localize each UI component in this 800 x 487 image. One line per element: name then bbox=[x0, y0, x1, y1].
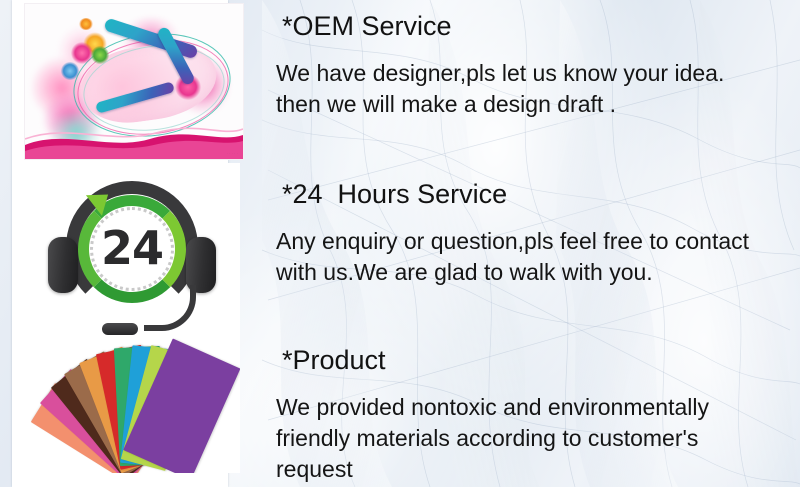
section-body: Any enquiry or question,pls feel free to… bbox=[276, 226, 796, 288]
body-line: We provided nontoxic and environmentally bbox=[276, 392, 796, 423]
section-heading: *Product bbox=[282, 342, 800, 378]
service-info-banner: · · · · · 24 bbox=[0, 0, 800, 487]
body-line: request bbox=[276, 454, 796, 485]
flip-flop-artwork-image: · · · · · bbox=[24, 3, 244, 160]
pink-wave-decor bbox=[25, 117, 243, 159]
product-image-column: · · · · · 24 bbox=[12, 0, 228, 487]
section-24-hours-service: *24 Hours Service Any enquiry or questio… bbox=[258, 176, 800, 288]
colored-foam-sheets-image bbox=[24, 335, 240, 473]
artwork-watermark: · · · · · bbox=[227, 151, 238, 155]
body-line: with us.We are glad to walk with you. bbox=[276, 257, 796, 288]
body-line: friendly materials according to customer… bbox=[276, 423, 796, 454]
hours-number-label: 24 bbox=[90, 219, 174, 277]
section-heading: *OEM Service bbox=[282, 8, 800, 44]
section-heading: *24 Hours Service bbox=[282, 176, 800, 212]
24-hours-headset-image: 24 bbox=[24, 163, 240, 353]
section-product: *Product We provided nontoxic and enviro… bbox=[258, 342, 800, 485]
section-oem-service: *OEM Service We have designer,pls let us… bbox=[258, 8, 800, 120]
service-text-column: *OEM Service We have designer,pls let us… bbox=[258, 0, 800, 487]
headset-earcup-left bbox=[48, 237, 78, 293]
section-body: We provided nontoxic and environmentally… bbox=[276, 392, 796, 485]
body-line: then we will make a design draft . bbox=[276, 89, 796, 120]
section-body: We have designer,pls let us know your id… bbox=[276, 58, 796, 120]
body-line: Any enquiry or question,pls feel free to… bbox=[276, 226, 796, 257]
headset-microphone bbox=[102, 323, 138, 335]
body-line: We have designer,pls let us know your id… bbox=[276, 58, 796, 89]
